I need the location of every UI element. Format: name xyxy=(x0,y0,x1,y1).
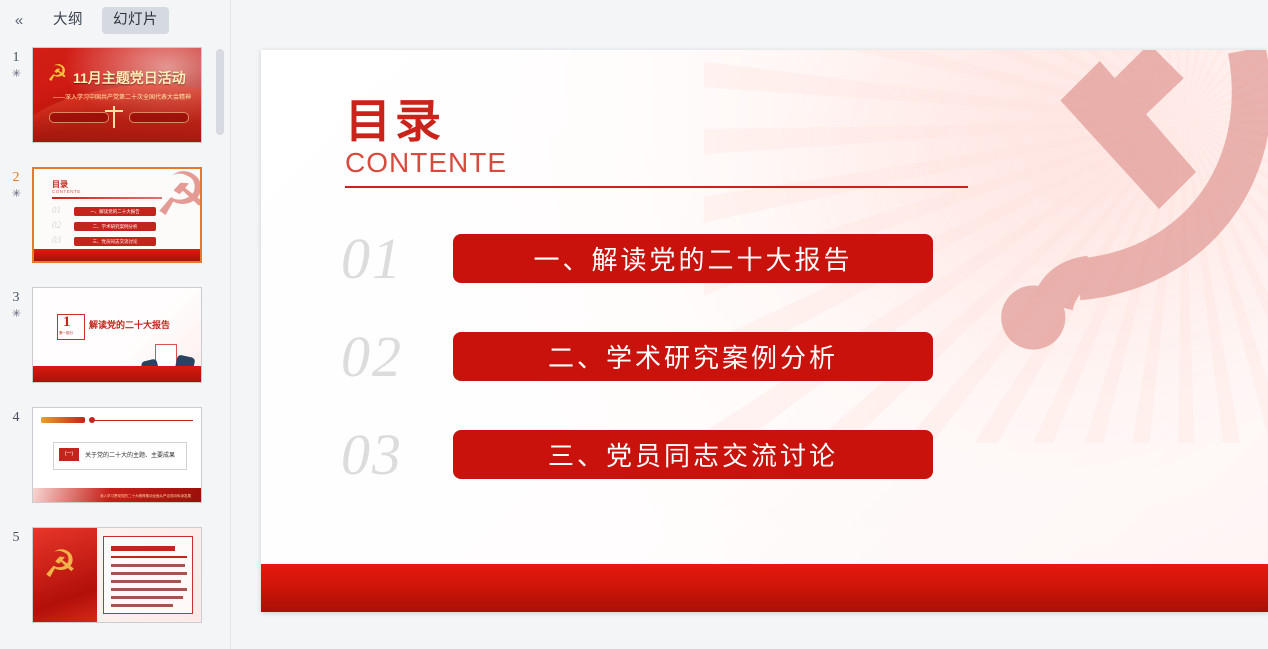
thumb3-title: 解读党的二十大报告 xyxy=(89,318,170,331)
thumbnail-scrollbar-track[interactable] xyxy=(216,45,224,645)
content-item-01[interactable]: 01 一、解读党的二十大报告 xyxy=(341,228,1221,326)
content-item-02[interactable]: 02 二、学术研究案例分析 xyxy=(341,326,1221,424)
content-item-bar[interactable]: 一、解读党的二十大报告 xyxy=(453,234,933,283)
thumb4-line xyxy=(95,420,193,422)
content-item-bar[interactable]: 二、学术研究案例分析 xyxy=(453,332,933,381)
content-item-number: 01 xyxy=(341,230,403,288)
powerpoint-editor-window: « 大纲 幻灯片 1 ✳ ☭ 11月主题党日活动 ——深入学习中国共产党第二十次… xyxy=(0,0,1268,649)
thumb3-badge-part: 第一部分 xyxy=(59,331,73,336)
thumbnail-1[interactable]: ☭ 11月主题党日活动 ——深入学习中国共产党第二十次全国代表大会精神 xyxy=(32,47,202,143)
collapse-panel-icon[interactable]: « xyxy=(4,7,34,35)
animation-star-icon: ✳ xyxy=(0,189,32,200)
animation-star-icon: ✳ xyxy=(0,69,32,80)
slide-meta-1: 1 ✳ xyxy=(0,41,32,80)
thumb5-rule xyxy=(111,556,187,558)
thumb2-item-bar-2: 二、学术研究案例分析 xyxy=(74,222,156,231)
thumbnail-list[interactable]: 1 ✳ ☭ 11月主题党日活动 ——深入学习中国共产党第二十次全国代表大会精神 xyxy=(0,41,230,649)
thumbnail-row-5[interactable]: 5 ☭ xyxy=(0,521,230,641)
animation-star-icon: ✳ xyxy=(0,309,32,320)
thumb3-badge-box xyxy=(57,314,85,340)
thumbnail-row-1[interactable]: 1 ✳ ☭ 11月主题党日活动 ——深入学习中国共产党第二十次全国代表大会精神 xyxy=(0,41,230,161)
content-item-bar[interactable]: 三、党员同志交流讨论 xyxy=(453,430,933,479)
thumb3-badge-number: 1 xyxy=(63,314,71,331)
thumb2-item-bar-3: 三、党员同志交流讨论 xyxy=(74,237,156,246)
thumb5-heading xyxy=(111,546,175,551)
hammer-and-sickle-icon: ☭ xyxy=(154,167,202,225)
slide-title-block[interactable]: 目录 CONTENTE xyxy=(345,97,507,179)
content-item-label: 一、解读党的二十大报告 xyxy=(533,240,852,277)
thumb4-badge: (一) xyxy=(59,448,79,461)
thumb3-footer-band xyxy=(33,366,201,382)
slide-navigator-panel: « 大纲 幻灯片 1 ✳ ☭ 11月主题党日活动 ——深入学习中国共产党第二十次… xyxy=(0,0,231,649)
thumb2-item-num-1: 01 xyxy=(52,205,61,215)
thumb4-text: 关于党的二十大的主题、主要成果 xyxy=(85,450,175,459)
thumb4-footer-text: 深入学习贯彻党的二十大精神推动全面从严治党向纵深发展 xyxy=(100,494,191,499)
slide-meta-6 xyxy=(0,641,32,649)
thumb2-item-bar-1: 一、解读党的二十大报告 xyxy=(74,207,156,216)
thumbnail-row-3[interactable]: 3 ✳ 1 第一部分 解读党的二十大报告 xyxy=(0,281,230,401)
thumbnail-scrollbar-thumb[interactable] xyxy=(216,49,224,135)
thumb2-item-num-2: 02 xyxy=(52,220,61,230)
slide-meta-4: 4 xyxy=(0,401,32,425)
slide-footer-band xyxy=(261,564,1268,612)
title-underline-rule xyxy=(345,186,968,188)
slide-meta-3: 3 ✳ xyxy=(0,281,32,320)
thumbnail-row-6[interactable]: ♛ xyxy=(0,641,230,649)
slide-meta-2: 2 ✳ xyxy=(0,161,32,200)
hammer-and-sickle-icon: ☭ xyxy=(47,62,73,86)
hammer-and-sickle-icon: ☭ xyxy=(43,546,77,584)
thumbnail-row-4[interactable]: 4 (一) 关于党的二十大的主题、主要成果 深入学习贯彻党的二十大精神推动全面从… xyxy=(0,401,230,521)
thumbnail-4[interactable]: (一) 关于党的二十大的主题、主要成果 深入学习贯彻党的二十大精神推动全面从严治… xyxy=(32,407,202,503)
thumb1-title: 11月主题党日活动 xyxy=(73,68,186,88)
page-title: 目录 xyxy=(345,97,507,145)
thumb2-footer-band xyxy=(34,249,200,261)
thumb1-divider-horizontal xyxy=(105,110,123,112)
panel-toolbar: « 大纲 幻灯片 xyxy=(0,0,230,41)
thumb1-tag-right xyxy=(129,112,189,123)
thumb5-body-line xyxy=(111,572,187,575)
slide-number-5: 5 xyxy=(0,531,32,545)
page-subtitle: CONTENTE xyxy=(345,147,507,179)
contents-list: 01 一、解读党的二十大报告 02 二、学术研究案例分析 03 三、党员同志交流… xyxy=(341,228,1221,522)
thumbnail-5[interactable]: ☭ xyxy=(32,527,202,623)
thumb5-body-line xyxy=(111,564,185,567)
thumb2-rule xyxy=(52,197,162,199)
content-item-number: 03 xyxy=(341,426,403,484)
thumbnail-3[interactable]: 1 第一部分 解读党的二十大报告 xyxy=(32,287,202,383)
content-item-number: 02 xyxy=(341,328,403,386)
tab-outline[interactable]: 大纲 xyxy=(42,7,94,34)
slide-number-1: 1 xyxy=(0,51,32,65)
thumb5-body-line xyxy=(111,588,187,591)
slide-canvas[interactable]: 目录 CONTENTE 01 一、解读党的二十大报告 02 二、学术研究案例分析 xyxy=(261,50,1268,612)
thumb5-body-line xyxy=(111,580,181,583)
content-item-label: 二、学术研究案例分析 xyxy=(548,338,838,375)
thumb4-tag xyxy=(41,417,85,423)
content-item-03[interactable]: 03 三、党员同志交流讨论 xyxy=(341,424,1221,522)
tab-slides[interactable]: 幻灯片 xyxy=(102,7,169,34)
thumb5-body-line xyxy=(111,596,183,599)
content-item-label: 三、党员同志交流讨论 xyxy=(548,436,838,473)
thumbnail-2[interactable]: ☭ 目录 CONTENTE 01 一、解读党的二十大报告 02 二、学术研究案例… xyxy=(32,167,202,263)
thumb1-tag-left xyxy=(49,112,109,123)
slide-number-3: 3 xyxy=(0,291,32,305)
slide-number-4: 4 xyxy=(0,411,32,425)
thumb2-subtitle: CONTENTE xyxy=(52,189,81,194)
thumbnail-row-2[interactable]: 2 ✳ ☭ 目录 CONTENTE 01 一、解读党的二十大报告 02 二、学术… xyxy=(0,161,230,281)
thumb1-subtitle: ——深入学习中国共产党第二十次全国代表大会精神 xyxy=(53,92,191,101)
slide-number-2: 2 xyxy=(0,171,32,185)
slide-meta-5: 5 xyxy=(0,521,32,545)
thumb2-item-num-3: 03 xyxy=(52,235,61,245)
thumb5-body-line xyxy=(111,604,173,607)
slide-editing-stage: 目录 CONTENTE 01 一、解读党的二十大报告 02 二、学术研究案例分析 xyxy=(232,0,1268,649)
